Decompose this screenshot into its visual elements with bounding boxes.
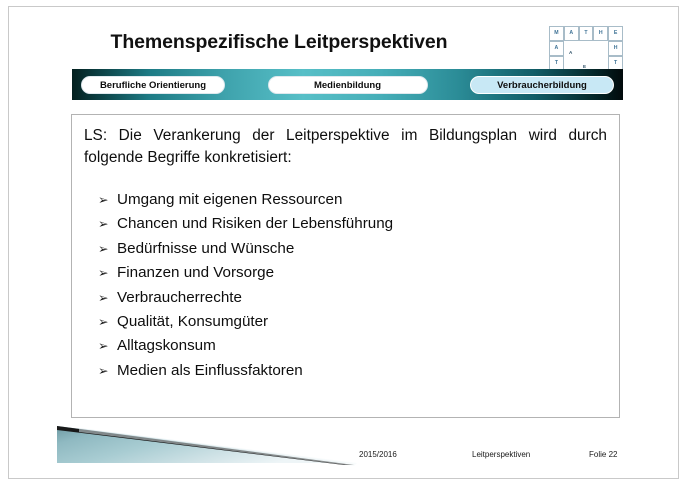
arrow-bullet-icon: ➢ [98,335,117,358]
list-item: ➢ Umgang mit eigenen Ressourcen [98,188,607,212]
leitperspektiven-tab-banner: Berufliche Orientierung Medienbildung Ve… [72,69,623,100]
arrow-bullet-icon: ➢ [98,238,117,261]
list-item: ➢ Verbraucherrechte [98,286,607,310]
arrow-bullet-icon: ➢ [98,360,117,383]
logo-cell: M [549,26,564,41]
list-item: ➢ Alltagskonsum [98,334,607,358]
arrow-bullet-icon: ➢ [98,311,117,334]
list-item: ➢ Medien als Einflussfaktoren [98,359,607,383]
tab-berufliche-orientierung[interactable]: Berufliche Orientierung [81,76,225,94]
logo-cell: T [579,26,594,41]
logo-cell: H [593,26,608,41]
page-title: Themenspezifische Leitperspektiven [9,31,549,54]
logo-cell-blank [593,41,608,56]
tab-medienbildung[interactable]: Medienbildung [268,76,428,94]
content-box: LS: Die Verankerung der Leitperspektive … [71,114,620,418]
logo-cell-blank [579,41,594,56]
footer-page-number: Folie 22 [589,450,617,459]
logo-cell-blank [564,41,579,56]
arrow-bullet-icon: ➢ [98,189,117,212]
arrow-bullet-icon: ➢ [98,213,117,236]
list-item-label: Qualität, Konsumgüter [117,310,607,333]
arrow-bullet-icon: ➢ [98,262,117,285]
list-item-label: Umgang mit eigenen Ressourcen [117,188,607,211]
list-item: ➢ Bedürfnisse und Wünsche [98,237,607,261]
list-item-label: Chancen und Risiken der Lebensführung [117,212,607,235]
logo-cell: A [564,26,579,41]
list-item-label: Finanzen und Vorsorge [117,261,607,284]
presentation-slide: Themenspezifische Leitperspektiven M A T… [8,6,679,479]
decorative-wedge-graphic [49,419,359,475]
arrow-bullet-icon: ➢ [98,287,117,310]
logo-cell: H [608,41,623,56]
footer-date: 2015/2016 [359,450,397,459]
list-item: ➢ Qualität, Konsumgüter [98,310,607,334]
concept-bullet-list: ➢ Umgang mit eigenen Ressourcen ➢ Chance… [84,188,607,383]
list-item-label: Bedürfnisse und Wünsche [117,237,607,260]
tab-verbraucherbildung[interactable]: Verbraucherbildung [470,76,614,94]
slide-footer: 2015/2016 Leitperspektiven Folie 22 [9,450,679,464]
logo-cell: A [549,41,564,56]
list-item-label: Medien als Einflussfaktoren [117,359,607,382]
intro-paragraph: LS: Die Verankerung der Leitperspektive … [84,125,607,169]
logo-cell: E [608,26,623,41]
list-item: ➢ Finanzen und Vorsorge [98,261,607,285]
list-item-label: Alltagskonsum [117,334,607,357]
list-item-label: Verbraucherrechte [117,286,607,309]
footer-topic: Leitperspektiven [472,450,530,459]
list-item: ➢ Chancen und Risiken der Lebensführung [98,212,607,236]
